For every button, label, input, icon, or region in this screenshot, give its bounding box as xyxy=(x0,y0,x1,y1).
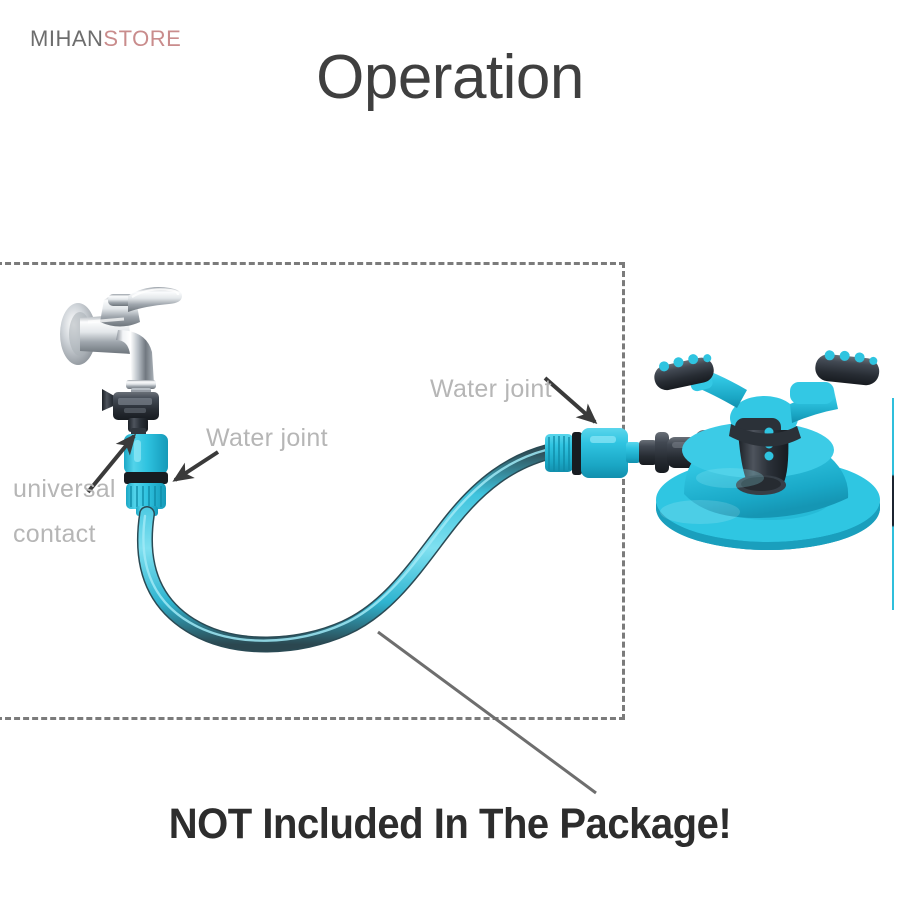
callout-universal: universal xyxy=(13,475,116,504)
callout-contact: contact xyxy=(13,520,96,549)
page-title: Operation xyxy=(0,42,900,113)
not-included-notice: NOT Included In The Package! xyxy=(32,800,869,849)
sprinkler-inlet-graphic xyxy=(639,430,715,476)
callout-water-joint-1: Water joint xyxy=(206,424,328,453)
callout-water-joint-2: Water joint xyxy=(430,375,552,404)
edge-artifact-line xyxy=(892,398,894,610)
product-infographic-page: MIHANSTORE Operation xyxy=(0,0,900,900)
sprinkler-graphic xyxy=(651,348,881,550)
